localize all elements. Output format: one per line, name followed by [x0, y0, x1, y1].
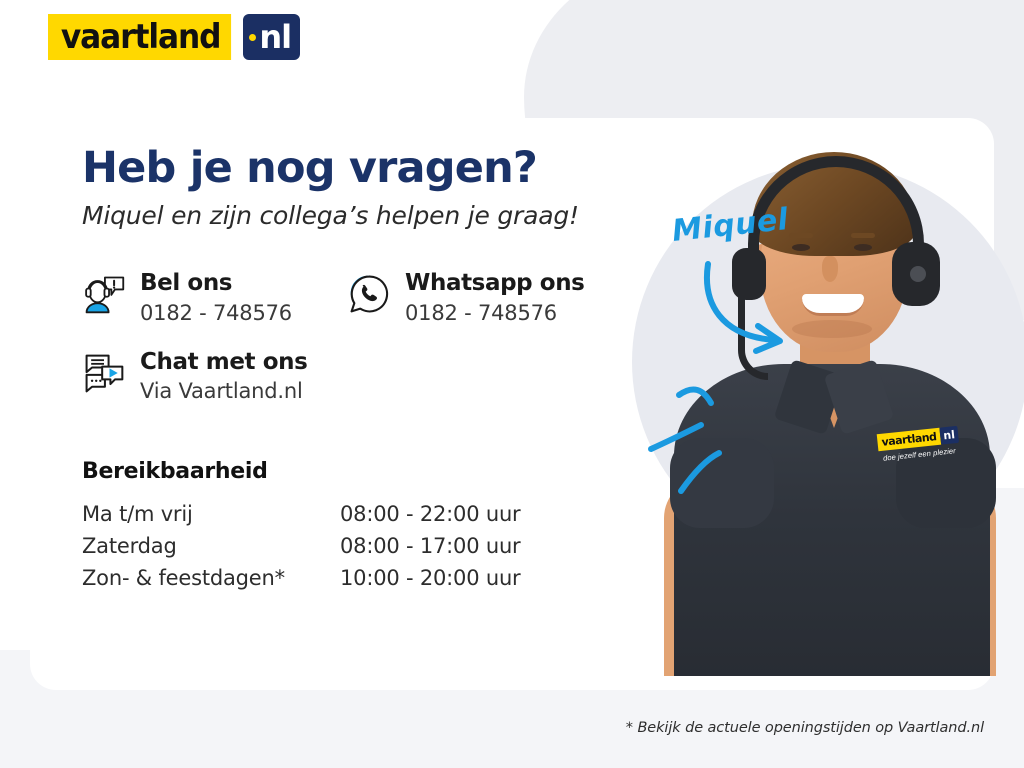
table-row: Zaterdag 08:00 - 17:00 uur [82, 530, 590, 562]
brand-logo[interactable]: vaartland nl [30, 0, 318, 74]
logo-wordmark: vaartland [48, 14, 231, 60]
whatsapp-icon [347, 272, 391, 316]
hours-time: 08:00 - 17:00 uur [340, 530, 590, 562]
logo-tld-badge: nl [243, 14, 300, 60]
contact-channel-chat[interactable]: Chat met ons Via Vaartland.nl [82, 349, 642, 403]
curved-arrow-icon [700, 258, 810, 358]
logo-lockup: vaartland nl [48, 14, 300, 60]
contact-channel-whatsapp-value[interactable]: 0182 - 748576 [405, 301, 584, 325]
chat-bubbles-icon [82, 351, 126, 395]
table-row: Ma t/m vrij 08:00 - 22:00 uur [82, 498, 590, 530]
contact-channel-row-1: Bel ons 0182 - 748576 Whatsapp ons 0182 … [82, 270, 642, 324]
main-content: Heb je nog vragen? Miquel en zijn colleg… [82, 146, 642, 594]
hours-day: Zaterdag [82, 530, 340, 562]
hours-time: 10:00 - 20:00 uur [340, 562, 590, 594]
opening-hours-title: Bereikbaarheid [82, 459, 642, 484]
logo-dot-icon [249, 34, 256, 41]
contact-channel-whatsapp-text: Whatsapp ons 0182 - 748576 [405, 270, 584, 324]
logo-tld-text: nl [259, 18, 291, 56]
table-row: Zon- & feestdagen* 10:00 - 20:00 uur [82, 562, 590, 594]
hours-day: Zon- & feestdagen* [82, 562, 340, 594]
hours-day: Ma t/m vrij [82, 498, 340, 530]
contact-channel-chat-text: Chat met ons Via Vaartland.nl [140, 349, 307, 403]
contact-channel-call-text: Bel ons 0182 - 748576 [140, 270, 292, 324]
contact-channel-call-value[interactable]: 0182 - 748576 [140, 301, 292, 325]
shirt-logo-tld: nl [939, 426, 958, 445]
page-title: Heb je nog vragen? [82, 146, 642, 191]
footnote: * Bekijk de actuele openingstijden op Va… [626, 720, 984, 736]
contact-channels: Bel ons 0182 - 748576 Whatsapp ons 0182 … [82, 270, 642, 403]
contact-channel-whatsapp-title: Whatsapp ons [405, 270, 584, 296]
spark-lines-icon [645, 365, 755, 495]
agent-mouth [802, 294, 864, 316]
page-subtitle: Miquel en zijn collega’s helpen je graag… [82, 201, 642, 230]
headset-person-icon [82, 272, 126, 316]
contact-channel-whatsapp[interactable]: Whatsapp ons 0182 - 748576 [347, 270, 612, 324]
opening-hours-table: Ma t/m vrij 08:00 - 22:00 uur Zaterdag 0… [82, 498, 590, 594]
opening-hours: Bereikbaarheid Ma t/m vrij 08:00 - 22:00… [82, 459, 642, 594]
hours-time: 08:00 - 22:00 uur [340, 498, 590, 530]
headset-earcup-right [892, 242, 940, 306]
contact-channel-call-title: Bel ons [140, 270, 232, 296]
contact-channel-chat-title: Chat met ons [140, 349, 307, 375]
contact-channel-call[interactable]: Bel ons 0182 - 748576 [82, 270, 347, 324]
contact-channel-chat-value[interactable]: Via Vaartland.nl [140, 379, 307, 403]
